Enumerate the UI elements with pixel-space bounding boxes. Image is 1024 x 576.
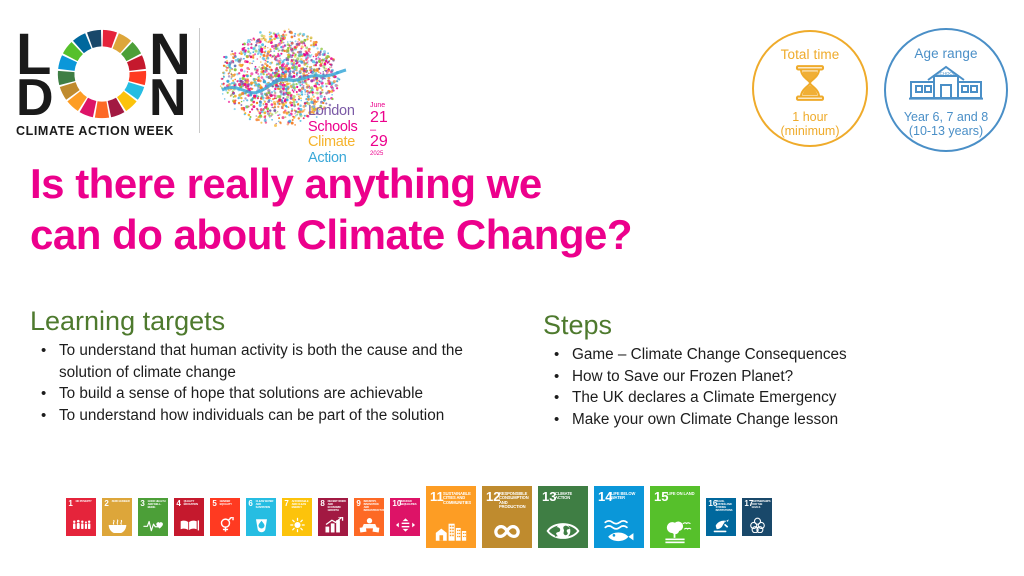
svg-text:SCHOOL: SCHOOL xyxy=(937,71,956,76)
badge-total-time-value: 1 hour (minimum) xyxy=(780,110,839,138)
tree-birds-icon xyxy=(650,518,700,544)
infinity-icon xyxy=(482,518,532,544)
badge-total-time-line1: 1 hour xyxy=(780,110,839,124)
sdg-goal-tile: 2ZERO HUNGER xyxy=(102,498,132,536)
badge-age-range-line2: (10-13 years) xyxy=(904,124,988,138)
sdg-goal-label: ZERO HUNGER xyxy=(112,501,131,504)
badge-age-range-line1: Year 6, 7 and 8 xyxy=(904,110,988,124)
sdg-goal-tile: 10REDUCED INEQUALITIES xyxy=(390,498,420,536)
sdg-goal-number: 5 xyxy=(212,500,216,508)
equal-arrows-icon xyxy=(390,517,420,533)
london-schools-climate-action-logo: London Schools Climate Action June 21 – … xyxy=(212,24,387,144)
learning-target-item: To understand how individuals can be par… xyxy=(30,405,500,427)
fish-waves-icon xyxy=(594,518,644,544)
sdg-goal-tile: 9INDUSTRY, INNOVATION AND INFRASTRUCTURE xyxy=(354,498,384,536)
steaming-bowl-icon xyxy=(102,517,132,533)
eye-earth-icon xyxy=(538,518,588,544)
steps-section: Steps Game – Climate Change Consequences… xyxy=(543,310,963,430)
school-building-icon: SCHOOL xyxy=(908,63,984,106)
badge-total-time-line2: (minimum) xyxy=(780,124,839,138)
sdg-goal-number: 11 xyxy=(430,490,444,503)
sdg-goal-tile: 1NO POVERTY xyxy=(66,498,96,536)
step-item: The UK declares a Climate Emergency xyxy=(543,387,963,409)
lcaw-letter-n2: N xyxy=(149,72,186,124)
sdg-goal-tile: 8DECENT WORK AND ECONOMIC GROWTH xyxy=(318,498,348,536)
hourglass-icon xyxy=(793,64,827,107)
steps-heading: Steps xyxy=(543,310,963,340)
sdg-goal-tile: 12RESPONSIBLE CONSUMPTION AND PRODUCTION xyxy=(482,486,532,548)
badge-age-range-title: Age range xyxy=(914,46,977,61)
gender-equality-icon xyxy=(210,517,240,533)
sdg-goal-number: 4 xyxy=(176,500,180,508)
sdg-goal-number: 8 xyxy=(320,500,324,508)
sdg-goal-label: LIFE BELOW WATER xyxy=(611,492,642,501)
learning-target-item: To build a sense of hope that solutions … xyxy=(30,383,500,405)
learning-target-item: To understand that human activity is bot… xyxy=(30,340,500,383)
lsca-date-end: 29 xyxy=(370,134,400,150)
water-glass-icon xyxy=(246,517,276,533)
sdg-goal-tile: 7AFFORDABLE AND CLEAN ENERGY xyxy=(282,498,312,536)
learning-targets-list: To understand that human activity is bot… xyxy=(30,340,500,426)
sdg-color-wheel-icon xyxy=(56,28,148,120)
sdg-goal-tile: 17PARTNERSHIPS FOR THE GOALS xyxy=(742,498,772,536)
badge-total-time-title: Total time xyxy=(781,47,840,62)
page-title: Is there really anything we can do about… xyxy=(30,158,830,260)
sdg-goal-label: DECENT WORK AND ECONOMIC GROWTH xyxy=(328,501,347,513)
lcaw-letter-d: D xyxy=(16,72,53,124)
learning-targets-heading: Learning targets xyxy=(30,306,500,336)
city-buildings-icon xyxy=(426,518,476,544)
sdg-goal-label: PEACE, JUSTICE AND STRONG INSTITUTIONS xyxy=(716,501,735,513)
sdg-goal-tile: 14LIFE BELOW WATER xyxy=(594,486,644,548)
lsca-date-year: 2025 xyxy=(370,150,400,158)
sdg-goals-strip: 1NO POVERTY 2ZERO HUNGER 3GOOD HEALTH AN… xyxy=(66,478,966,556)
sdg-goal-number: 7 xyxy=(284,500,288,508)
lcaw-wordmark: L N D N xyxy=(16,24,191,108)
badge-age-range: Age range SCHOOL Year 6, 7 an xyxy=(884,28,1008,152)
slide-header: L N D N CLIMATE ACTION WEEK London Schoo… xyxy=(0,0,1024,160)
sdg-goal-label: QUALITY EDUCATION xyxy=(184,501,203,507)
sdg-goal-label: NO POVERTY xyxy=(76,501,95,504)
growth-chart-icon xyxy=(318,517,348,533)
lcaw-tagline: CLIMATE ACTION WEEK xyxy=(16,124,191,138)
sdg-goal-number: 2 xyxy=(104,500,108,508)
steps-list: Game – Climate Change ConsequencesHow to… xyxy=(543,344,963,430)
lsca-event-date: June 21 – 29 2025 xyxy=(370,102,400,158)
page-title-line2: can do about Climate Change? xyxy=(30,209,830,260)
sdg-goal-label: RESPONSIBLE CONSUMPTION AND PRODUCTION xyxy=(499,492,530,510)
sdg-goal-tile: 6CLEAN WATER AND SANITATION xyxy=(246,498,276,536)
sdg-goal-label: LIFE ON LAND xyxy=(667,492,698,497)
sdg-goal-number: 1 xyxy=(68,500,72,508)
sdg-goal-number: 6 xyxy=(248,500,252,508)
sdg-goal-label: GENDER EQUALITY xyxy=(220,501,239,507)
sdg-goal-tile: 11SUSTAINABLE CITIES AND COMMUNITIES xyxy=(426,486,476,548)
step-item: How to Save our Frozen Planet? xyxy=(543,366,963,388)
learning-targets-section: Learning targets To understand that huma… xyxy=(30,306,500,426)
industry-cubes-icon xyxy=(354,517,384,533)
sun-energy-icon xyxy=(282,517,312,533)
partnership-rings-icon xyxy=(742,517,772,533)
logo-divider xyxy=(199,28,200,133)
dove-gavel-icon xyxy=(706,517,736,533)
sdg-goal-tile: 16PEACE, JUSTICE AND STRONG INSTITUTIONS xyxy=(706,498,736,536)
badge-total-time: Total time 1 hour (minimum) xyxy=(752,30,868,147)
sdg-goal-label: SUSTAINABLE CITIES AND COMMUNITIES xyxy=(443,492,474,506)
london-climate-action-week-logo: L N D N CLIMATE ACTION WEEK xyxy=(16,24,191,136)
sdg-goal-label: PARTNERSHIPS FOR THE GOALS xyxy=(752,501,771,510)
heartbeat-icon xyxy=(138,517,168,533)
sdg-goal-number: 9 xyxy=(356,500,360,508)
sdg-goal-tile: 3GOOD HEALTH AND WELL-BEING xyxy=(138,498,168,536)
step-item: Make your own Climate Change lesson xyxy=(543,409,963,431)
open-book-icon xyxy=(174,517,204,533)
sdg-goal-tile: 5GENDER EQUALITY xyxy=(210,498,240,536)
sdg-goal-label: CLEAN WATER AND SANITATION xyxy=(256,501,275,510)
sdg-goal-number: 3 xyxy=(140,500,144,508)
sdg-goal-tile: 4QUALITY EDUCATION xyxy=(174,498,204,536)
sdg-goal-label: GOOD HEALTH AND WELL-BEING xyxy=(148,501,167,510)
people-family-icon xyxy=(66,517,96,533)
sdg-goal-label: AFFORDABLE AND CLEAN ENERGY xyxy=(292,501,311,510)
sdg-goal-label: CLIMATE ACTION xyxy=(555,492,586,501)
badge-age-range-value: Year 6, 7 and 8 (10-13 years) xyxy=(904,110,988,138)
page-title-line1: Is there really anything we xyxy=(30,158,830,209)
sdg-goal-tile: 13CLIMATE ACTION xyxy=(538,486,588,548)
sdg-goal-tile: 15LIFE ON LAND xyxy=(650,486,700,548)
sdg-goal-label: REDUCED INEQUALITIES xyxy=(400,501,419,507)
sdg-goal-label: INDUSTRY, INNOVATION AND INFRASTRUCTURE xyxy=(364,501,383,513)
step-item: Game – Climate Change Consequences xyxy=(543,344,963,366)
